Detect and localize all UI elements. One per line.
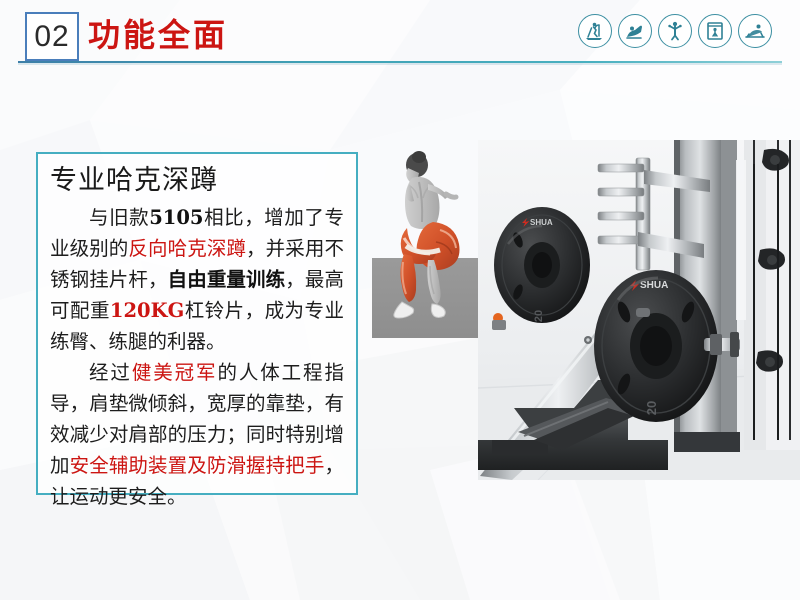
squat-muscle-anatomy [370, 150, 490, 340]
p1-bold-1: 自由重量训练 [168, 268, 286, 291]
p2-part1: 经过 [89, 361, 132, 384]
weight-plate-back: SHUA 20 [494, 207, 590, 323]
bench-press-icon [738, 14, 772, 48]
p1-part1: 与旧款 [89, 206, 149, 229]
p2-highlight-1: 健美冠军 [132, 361, 218, 384]
slide-header: 02 功能全面 [0, 0, 800, 70]
plate-weight-label-2: 20 [533, 310, 545, 322]
page-title: 功能全面 [88, 15, 228, 55]
treadmill-icon [578, 14, 612, 48]
slide-root: 02 功能全面 [0, 0, 800, 600]
p1-model: 5105 [149, 206, 203, 229]
hack-squat-machine-photo: SHUA 20 SHUA [478, 140, 800, 480]
plate-brand-label: SHUA [640, 280, 668, 291]
arms-raised-icon [658, 14, 692, 48]
paragraph-1: 与旧款5105相比，增加了专业级别的反向哈克深蹲，并采用不锈钢挂片杆，自由重量训… [50, 202, 344, 357]
header-divider-shadow [18, 63, 782, 65]
header-icon-strip [578, 14, 772, 48]
section-number-box: 02 [25, 12, 79, 61]
p1-highlight-1: 反向哈克深蹲 [128, 237, 246, 260]
description-panel: 专业哈克深蹲 与旧款5105相比，增加了专业级别的反向哈克深蹲，并采用不锈钢挂片… [36, 152, 358, 495]
power-rack-icon [698, 14, 732, 48]
paragraph-2: 经过健美冠军的人体工程指导，肩垫微倾斜，宽厚的靠垫，有效减少对肩部的压力；同时特… [50, 357, 344, 512]
plate-weight-label: 20 [644, 401, 659, 415]
p1-highlight-2: 120KG [110, 299, 184, 322]
section-number: 02 [34, 22, 69, 52]
weight-plate-front: SHUA 20 [594, 270, 718, 422]
recumbent-bike-icon [618, 14, 652, 48]
panel-heading: 专业哈克深蹲 [50, 162, 344, 200]
p2-highlight-2: 安全辅助装置及防滑握持把手 [70, 454, 325, 477]
